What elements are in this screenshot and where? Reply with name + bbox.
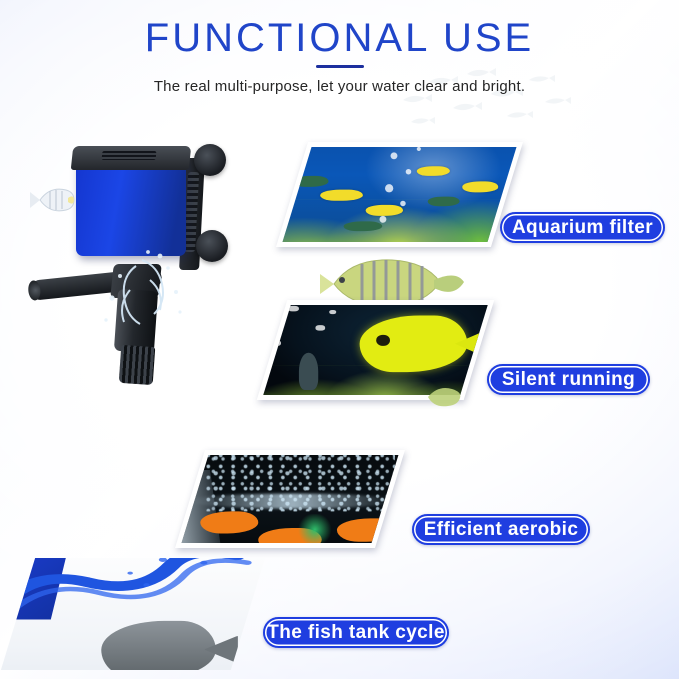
badge-efficient-aerobic[interactable]: Efficient aerobic — [412, 514, 590, 545]
page-subtitle: The real multi-purpose, let your water c… — [0, 78, 679, 95]
badge-silent-running[interactable]: Silent running — [487, 364, 650, 395]
infographic-page: FUNCTIONAL USE The real multi-purpose, l… — [0, 0, 679, 679]
water-ribbon — [1, 558, 265, 620]
pale-angelfish-icon — [28, 182, 76, 218]
small-tailfin-icon — [424, 384, 464, 410]
badge-aquarium-filter[interactable]: Aquarium filter — [500, 212, 665, 243]
pump-body — [76, 160, 186, 256]
feature-photo-aquarium-filter — [276, 142, 523, 247]
product-pump-image — [24, 138, 274, 408]
badge-fish-tank-cycle[interactable]: The fish tank cycle — [263, 617, 449, 648]
title-divider — [316, 65, 364, 68]
pump-vent-slots — [102, 151, 157, 160]
water-splash-effect — [90, 246, 200, 366]
school-of-fish-watermark — [395, 60, 585, 130]
page-title: FUNCTIONAL USE — [0, 14, 679, 62]
pump-suction-cup-bottom — [196, 230, 228, 262]
feature-photo-fish-tank-cycle — [1, 558, 265, 670]
feature-photo-efficient-aerobic — [175, 450, 405, 548]
pump-suction-cup-top — [194, 144, 226, 176]
